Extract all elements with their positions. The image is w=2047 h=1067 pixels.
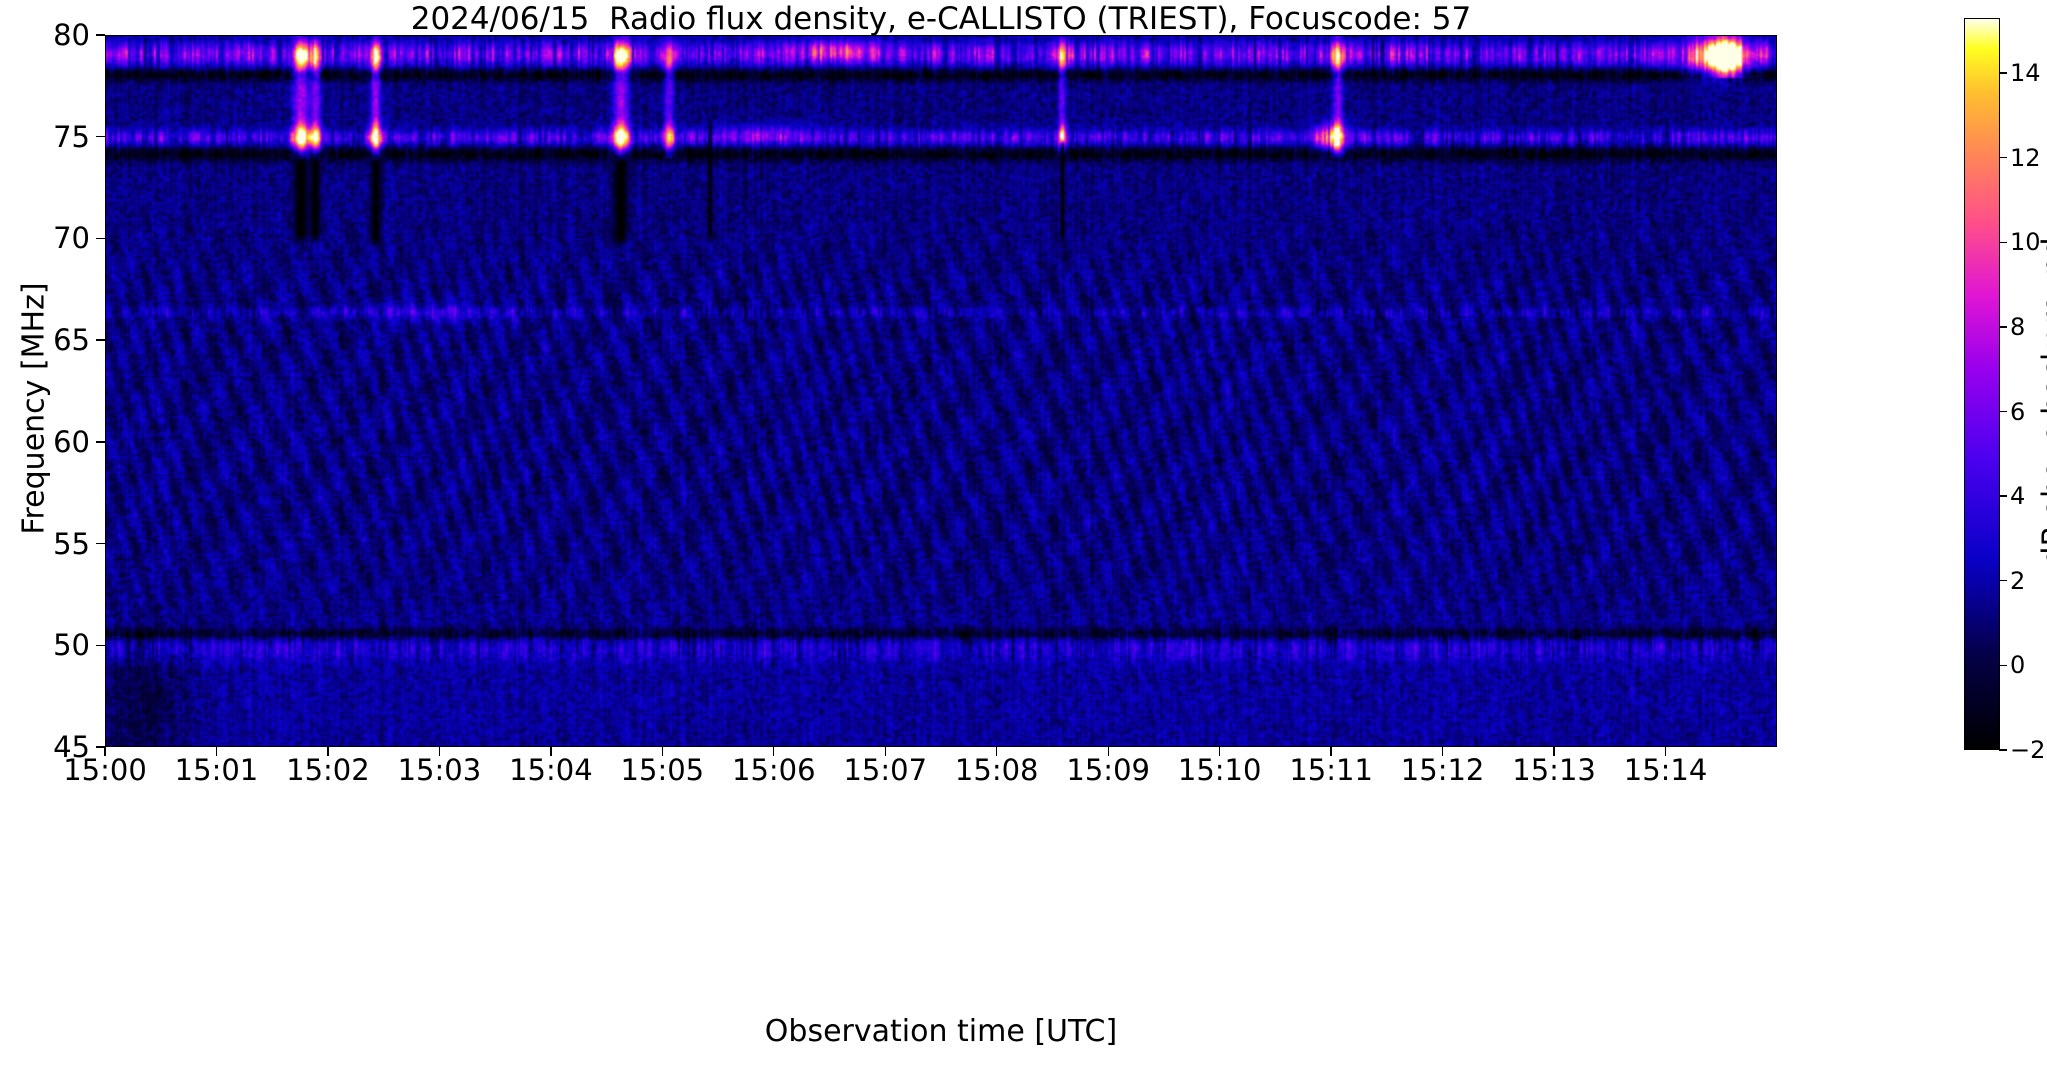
y-tick-mark xyxy=(96,34,105,35)
colorbar-tick-label: 4 xyxy=(2010,482,2025,510)
y-tick-label: 55 xyxy=(10,527,90,561)
y-tick-mark xyxy=(96,238,105,239)
x-tick-label: 15:10 xyxy=(1178,753,1262,787)
colorbar-tick-mark xyxy=(1999,242,2007,243)
colorbar-tick-mark xyxy=(1999,72,2007,73)
spectrogram-figure: 2024/06/15 Radio flux density, e-CALLIST… xyxy=(0,0,2047,1067)
colorbar-tick-label: 8 xyxy=(2010,313,2025,341)
y-tick-label: 50 xyxy=(10,628,90,662)
x-tick-label: 15:02 xyxy=(286,753,370,787)
y-tick-label: 75 xyxy=(10,120,90,154)
x-tick-label: 15:03 xyxy=(398,753,482,787)
x-tick-label: 15:00 xyxy=(63,753,147,787)
x-tick-label: 15:01 xyxy=(175,753,259,787)
colorbar-tick-mark xyxy=(1999,411,2007,412)
y-tick-mark xyxy=(96,339,105,340)
x-tick-label: 15:12 xyxy=(1401,753,1485,787)
colorbar-tick-label: 6 xyxy=(2010,398,2025,426)
colorbar-tick-mark xyxy=(1999,495,2007,496)
x-axis-label: Observation time [UTC] xyxy=(105,1014,1777,1049)
y-tick-mark xyxy=(96,136,105,137)
y-tick-label: 60 xyxy=(10,425,90,459)
spectrogram-heatmap xyxy=(106,36,1777,747)
page-title: 2024/06/15 Radio flux density, e-CALLIST… xyxy=(105,2,1777,36)
colorbar-tick-mark xyxy=(1999,326,2007,327)
x-tick-label: 15:05 xyxy=(621,753,705,787)
colorbar-tick-mark xyxy=(1999,665,2007,666)
y-tick-mark xyxy=(96,645,105,646)
colorbar-tick-mark xyxy=(1999,157,2007,158)
colorbar-label: dB above background xyxy=(2037,36,2047,768)
colorbar-tick-label: 0 xyxy=(2010,651,2025,679)
x-tick-label: 15:14 xyxy=(1624,753,1708,787)
x-tick-label: 15:07 xyxy=(843,753,927,787)
x-tick-label: 15:04 xyxy=(509,753,593,787)
y-tick-label: 70 xyxy=(10,221,90,255)
y-tick-mark xyxy=(96,543,105,544)
x-tick-label: 15:11 xyxy=(1289,753,1373,787)
x-tick-label: 15:06 xyxy=(732,753,816,787)
x-tick-label: 15:13 xyxy=(1512,753,1596,787)
y-tick-label: 65 xyxy=(10,323,90,357)
colorbar-gradient xyxy=(1965,19,1999,749)
y-tick-label: 80 xyxy=(10,18,90,52)
colorbar-tick-label: 2 xyxy=(2010,567,2025,595)
x-tick-label: 15:08 xyxy=(955,753,1039,787)
y-tick-mark xyxy=(96,441,105,442)
x-tick-label: 15:09 xyxy=(1066,753,1150,787)
colorbar-tick-mark xyxy=(1999,580,2007,581)
colorbar-tick-mark xyxy=(1999,749,2007,750)
colorbar xyxy=(1964,18,2000,750)
spectrogram-axes xyxy=(105,35,1777,747)
